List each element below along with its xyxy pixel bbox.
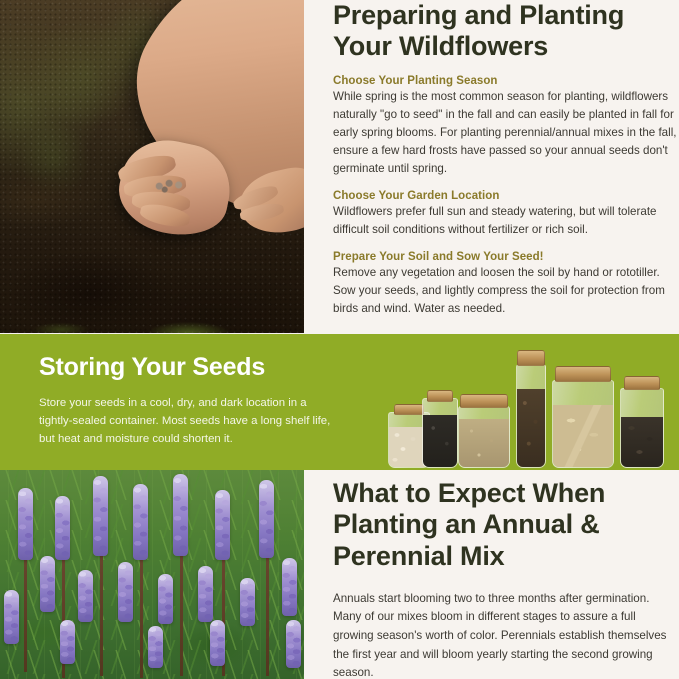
infographic-page: Preparing and Planting Your Wildflowers … [0, 0, 679, 679]
expect-paragraph: Annuals start blooming two to three mont… [333, 590, 679, 679]
section-what-to-expect: What to Expect When Planting an Annual &… [0, 470, 679, 679]
block-garden-location: Choose Your Garden Location Wildflowers … [333, 190, 679, 239]
lupine-flower-spike [4, 590, 19, 644]
seeds-in-hand [151, 174, 189, 196]
lupine-flower-spike [198, 566, 213, 622]
lupine-flower-spike [93, 476, 108, 556]
lupine-flower-spike [210, 620, 225, 666]
subheading-choose-planting-season: Choose Your Planting Season [333, 75, 679, 87]
subheading-prepare-soil-sow-seed: Prepare Your Soil and Sow Your Seed! [333, 251, 679, 263]
expect-text-column: What to Expect When Planting an Annual &… [333, 478, 679, 679]
jar-pumpkin-seeds [552, 366, 614, 468]
preparing-text-column: Preparing and Planting Your Wildflowers … [333, 0, 679, 318]
lupine-flower-spike [18, 488, 33, 560]
lupine-flower-spike [148, 626, 163, 668]
jar-black-seeds [422, 390, 458, 468]
jar-tall-brown-seeds [516, 350, 546, 468]
lupine-flower-spike [60, 620, 75, 664]
hand-sowing-seeds-photo [0, 0, 304, 333]
lupine-flower-spike [78, 570, 93, 622]
section-storing-your-seeds: Storing Your Seeds Store your seeds in a… [0, 334, 679, 470]
lupine-flower-spike [282, 558, 297, 616]
preparing-title: Preparing and Planting Your Wildflowers [333, 0, 679, 63]
lupine-flower-spike [259, 480, 274, 558]
subheading-choose-garden-location: Choose Your Garden Location [333, 190, 679, 202]
lupine-flower-spike [118, 562, 133, 622]
section-preparing-and-planting: Preparing and Planting Your Wildflowers … [0, 0, 679, 334]
block-planting-season: Choose Your Planting Season While spring… [333, 75, 679, 178]
lupine-flower-spike [240, 578, 255, 626]
jar-tan-seeds [458, 394, 510, 468]
lupine-flower-spike [40, 556, 55, 612]
lupine-field-photo [0, 470, 304, 679]
paragraph-choose-garden-location: Wildflowers prefer full sun and steady w… [333, 203, 679, 239]
expect-title: What to Expect When Planting an Annual &… [333, 478, 679, 572]
lupine-flower-spike [133, 484, 148, 560]
jar-sunflower-seeds [620, 376, 664, 468]
seed-jars-photo [388, 342, 668, 468]
lupine-flower-spike [55, 496, 70, 560]
lupine-flower-spike [158, 574, 173, 624]
storing-paragraph: Store your seeds in a cool, dry, and dar… [39, 394, 339, 449]
grass-sprouts [0, 246, 304, 333]
lupine-flower-spike [173, 474, 188, 556]
paragraph-prepare-soil-sow-seed: Remove any vegetation and loosen the soi… [333, 264, 679, 318]
storing-text-column: Storing Your Seeds Store your seeds in a… [39, 354, 339, 448]
lupine-flower-spike [215, 490, 230, 560]
storing-title: Storing Your Seeds [39, 354, 339, 382]
block-prepare-soil: Prepare Your Soil and Sow Your Seed! Rem… [333, 251, 679, 318]
lupine-flower-spike [286, 620, 301, 668]
paragraph-choose-planting-season: While spring is the most common season f… [333, 88, 679, 178]
